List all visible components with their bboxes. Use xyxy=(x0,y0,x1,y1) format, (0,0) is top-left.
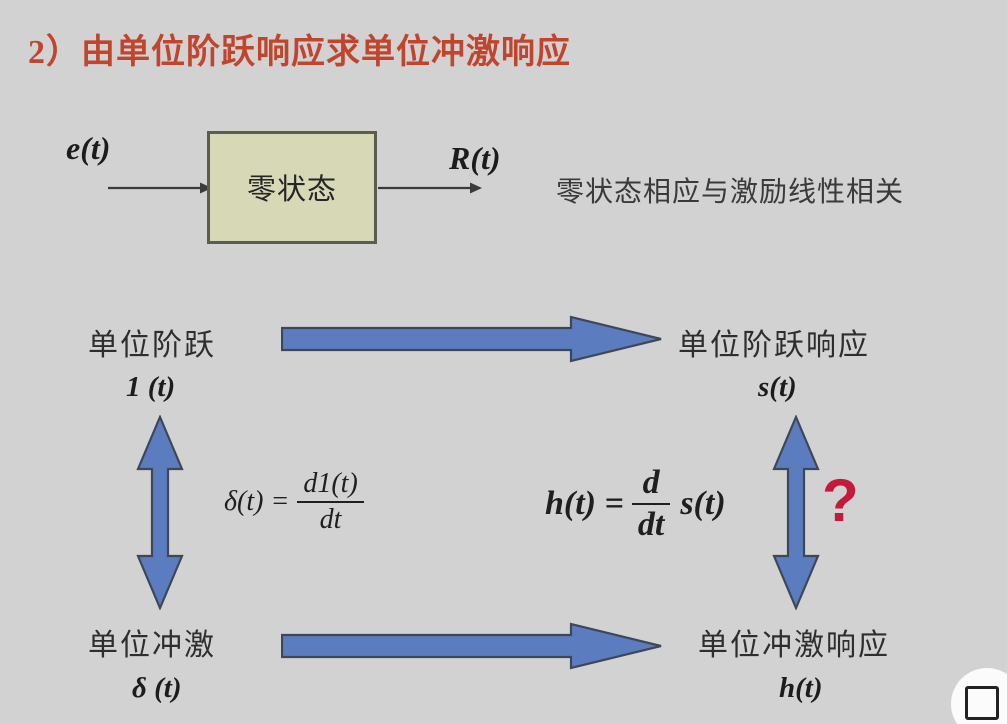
unit-impulse-symbol: δ (t) xyxy=(132,672,181,705)
formula-left-denominator: dt xyxy=(314,503,348,536)
linearity-note: 零状态相应与激励线性相关 xyxy=(556,170,904,210)
question-mark-annotation: ? xyxy=(822,466,859,535)
formula-left-lhs: δ(t) = xyxy=(224,486,289,518)
formula-right-numerator: d xyxy=(637,464,666,503)
output-signal-label: R(t) xyxy=(449,140,501,177)
unit-impulse-label: 单位冲激 xyxy=(88,620,216,664)
input-arrow-icon xyxy=(108,178,212,198)
long-arrow-right-icon xyxy=(281,313,663,365)
unit-step-response-symbol: s(t) xyxy=(758,371,797,404)
double-arrow-vertical-icon xyxy=(768,415,824,610)
input-signal-label: e(t) xyxy=(66,130,110,167)
formula-right-lhs: h(t) = xyxy=(545,485,624,523)
impulse-derivative-formula: δ(t) = d1(t) dt xyxy=(224,468,364,536)
formula-right-denominator: dt xyxy=(632,505,670,544)
impulse-response-label: 单位冲激响应 xyxy=(698,620,890,664)
system-block-label: 零状态 xyxy=(210,166,374,208)
page-title: 2）由单位阶跃响应求单位冲激响应 xyxy=(28,24,571,73)
system-block: 零状态 xyxy=(207,131,377,244)
unit-step-label: 单位阶跃 xyxy=(88,320,216,364)
formula-left-numerator: d1(t) xyxy=(297,468,363,501)
video-control-glyph xyxy=(965,686,999,720)
unit-step-symbol: 1 (t) xyxy=(126,371,175,404)
formula-left-fraction: d1(t) dt xyxy=(297,468,363,536)
double-arrow-vertical-icon xyxy=(132,415,188,610)
unit-step-response-label: 单位阶跃响应 xyxy=(678,320,870,364)
slide-canvas: 2）由单位阶跃响应求单位冲激响应 e(t) 零状态 R(t) 零状态相应与激励线… xyxy=(0,0,1007,724)
impulse-response-formula: h(t) = d dt s(t) xyxy=(545,464,726,544)
impulse-response-symbol: h(t) xyxy=(779,672,823,705)
video-control-icon[interactable] xyxy=(951,668,1007,724)
long-arrow-right-icon xyxy=(281,620,663,672)
formula-right-fraction: d dt xyxy=(632,464,670,544)
formula-right-rhs: s(t) xyxy=(680,485,725,523)
output-arrow-icon xyxy=(378,178,482,198)
